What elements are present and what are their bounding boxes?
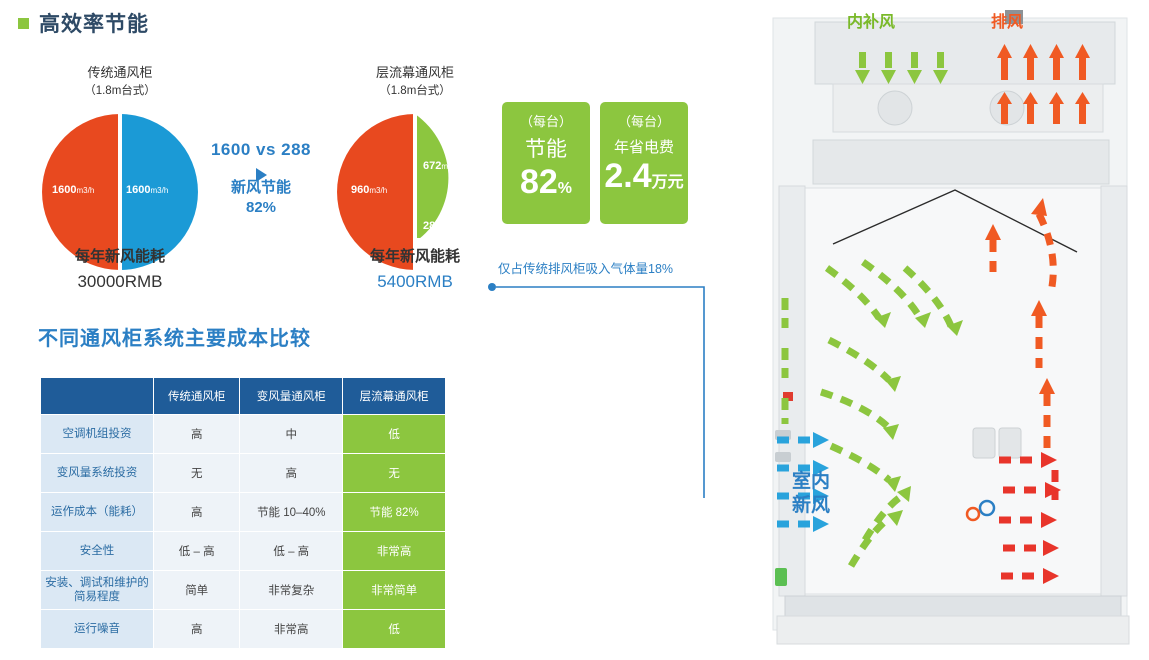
badge-energy-saving-value: 82% — [502, 165, 590, 201]
savings-arrow-icon — [196, 168, 326, 187]
label-inner-supply: 内补风 — [847, 8, 895, 32]
traditional-hood-left-unit: m3/h — [76, 186, 94, 195]
table-header-row: 传统通风柜 变风量通风柜 层流幕通风柜 — [41, 378, 446, 415]
laminar-hood-footer-line1: 每年新风能耗 — [310, 246, 520, 269]
laminar-hood-top-number: 672 — [423, 160, 441, 172]
section-title: 不同通风柜系统主要成本比较 — [38, 322, 311, 351]
table-cell: 高 — [154, 493, 240, 532]
table-row: 运作成本（能耗） 高 节能 10–40% 节能 82% — [41, 493, 446, 532]
table-cell: 节能 10–40% — [240, 493, 343, 532]
table-cell: 低 — [343, 415, 446, 454]
fume-hood-illustration — [755, 0, 1149, 660]
laminar-hood-top-value: 672m3/h — [423, 160, 459, 172]
left-chart-caption: 传统通风柜 （1.8m台式） — [20, 64, 220, 100]
annotation-text: 仅占传统排风柜吸入气体量18% — [498, 258, 673, 277]
laminar-hood-top-unit: m3/h — [441, 162, 459, 171]
label-indoor-fresh-air: 室内 新风 — [755, 470, 830, 518]
laminar-hood-bottom-value: 288m3/h — [423, 220, 459, 232]
traditional-hood-footer-line2: 30000RMB — [20, 269, 220, 295]
traditional-hood-footer: 每年新风能耗 30000RMB — [20, 246, 220, 294]
table-cell: 节能 82% — [343, 493, 446, 532]
table-cell: 中 — [240, 415, 343, 454]
traditional-hood-left-number: 1600 — [52, 184, 76, 196]
laminar-hood-bottom-number: 288 — [423, 220, 441, 232]
table-cell: 无 — [343, 454, 446, 493]
table-body: 空调机组投资 高 中 低 变风量系统投资 无 高 无 运作成本（能耗） 高 节能… — [41, 415, 446, 649]
traditional-hood-right-value: 1600m3/h — [126, 184, 168, 196]
table-cell: 低 – 高 — [240, 532, 343, 571]
traditional-hood-footer-line1: 每年新风能耗 — [20, 246, 220, 269]
table-cell: 高 — [154, 415, 240, 454]
right-chart-caption-line2: （1.8m台式） — [310, 83, 520, 100]
badge-cost-saving-number: 2.4 — [604, 157, 651, 195]
table-row: 安全性 低 – 高 低 – 高 非常高 — [41, 532, 446, 571]
table-row: 变风量系统投资 无 高 无 — [41, 454, 446, 493]
right-chart-caption-line1: 层流幕通风柜 — [310, 64, 520, 83]
table-header-cell-0 — [41, 378, 154, 415]
badge-energy-saving-label: 节能 — [502, 133, 590, 163]
label-exhaust: 排风 — [991, 8, 1023, 32]
table-cell: 非常高 — [240, 610, 343, 649]
table-cell: 非常简单 — [343, 571, 446, 610]
traditional-hood-right-unit: m3/h — [150, 186, 168, 195]
badge-cost-saving-top: （每台） — [600, 111, 688, 130]
table-header-cell-3: 层流幕通风柜 — [343, 378, 446, 415]
table-cell: 高 — [240, 454, 343, 493]
left-panel: 传统通风柜 （1.8m台式） 1600m3/h 1600m3/h 每年新风能耗 … — [0, 0, 760, 660]
table-row-label: 运作成本（能耗） — [41, 493, 154, 532]
annotation-leader-line — [488, 278, 718, 498]
table-cell: 低 – 高 — [154, 532, 240, 571]
table-row-label: 变风量系统投资 — [41, 454, 154, 493]
table-cell: 非常复杂 — [240, 571, 343, 610]
label-indoor-fresh-air-line2: 新风 — [755, 494, 830, 518]
table-header-cell-1: 传统通风柜 — [154, 378, 240, 415]
laminar-hood-left-number: 960 — [351, 184, 369, 196]
badge-energy-saving-top: （每台） — [502, 111, 590, 130]
savings-percent: 82% — [196, 199, 326, 216]
savings-ratio: 1600 vs 288 — [196, 140, 326, 160]
left-chart-caption-line2: （1.8m台式） — [20, 83, 220, 100]
table-cell: 高 — [154, 610, 240, 649]
right-chart-caption: 层流幕通风柜 （1.8m台式） — [310, 64, 520, 100]
table-row-label: 运行噪音 — [41, 610, 154, 649]
badge-energy-saving: （每台） 节能 82% — [502, 102, 590, 224]
badge-cost-saving-unit: 万元 — [652, 174, 684, 191]
traditional-hood-right-number: 1600 — [126, 184, 150, 196]
laminar-hood-left-value: 960m3/h — [351, 184, 387, 196]
traditional-hood-left-value: 1600m3/h — [52, 184, 94, 196]
laminar-hood-left-unit: m3/h — [369, 186, 387, 195]
badge-cost-saving-value: 2.4万元 — [600, 159, 688, 195]
left-chart-caption-line1: 传统通风柜 — [20, 64, 220, 83]
badge-cost-saving-label: 年省电费 — [600, 136, 688, 157]
laminar-hood-bottom-unit: m3/h — [441, 222, 459, 231]
table-cell: 低 — [343, 610, 446, 649]
table-row: 运行噪音 高 非常高 低 — [41, 610, 446, 649]
fume-hood-photo: 内补风 排风 室内 新风 — [755, 0, 1149, 660]
label-indoor-fresh-air-line1: 室内 — [755, 470, 830, 494]
table-cell: 无 — [154, 454, 240, 493]
table-header-cell-2: 变风量通风柜 — [240, 378, 343, 415]
table-head: 传统通风柜 变风量通风柜 层流幕通风柜 — [41, 378, 446, 415]
cost-comparison-table: 传统通风柜 变风量通风柜 层流幕通风柜 空调机组投资 高 中 低 变风量系统投资… — [40, 377, 446, 649]
badge-energy-saving-unit: % — [558, 180, 572, 197]
table-row-label: 安全性 — [41, 532, 154, 571]
table-cell: 非常高 — [343, 532, 446, 571]
badge-cost-saving: （每台） 年省电费 2.4万元 — [600, 102, 688, 224]
table-row-label: 空调机组投资 — [41, 415, 154, 454]
table-row: 安装、调试和维护的简易程度 简单 非常复杂 非常简单 — [41, 571, 446, 610]
table-row: 空调机组投资 高 中 低 — [41, 415, 446, 454]
table-cell: 简单 — [154, 571, 240, 610]
table-row-label: 安装、调试和维护的简易程度 — [41, 571, 154, 610]
badge-energy-saving-number: 82 — [520, 163, 558, 201]
